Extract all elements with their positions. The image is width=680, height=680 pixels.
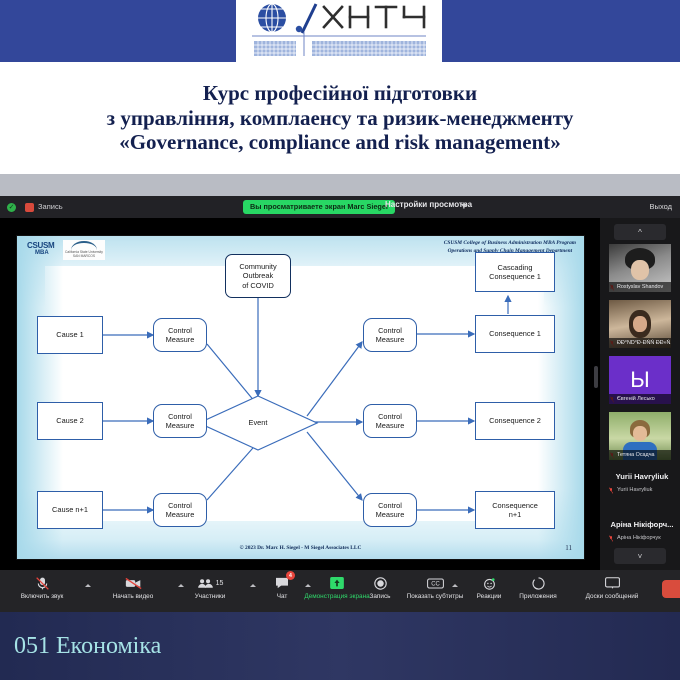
csusm-university-mark: California State University SAN MARCOS (63, 240, 105, 260)
node-cause-n1: Cause n+1 (37, 491, 103, 529)
node-community-outbreak: Community Outbreak of COVID (225, 254, 291, 298)
chevron-down-icon[interactable]: ˅ (614, 548, 666, 564)
participant-tile[interactable]: Rostyslav Shandov (609, 244, 671, 292)
people-icon: 15 (197, 574, 224, 592)
footer-specialty-label: 051 Економіка (14, 633, 161, 660)
toolbar-participants-label: Участники (195, 593, 226, 600)
node-control-measure-2-label: Control Measure (166, 412, 195, 431)
node-control-measure-6: Control Measure (363, 493, 417, 527)
course-title-line3: «Governance, compliance and risk managem… (119, 130, 561, 154)
participant-name: Тетяна Осадча (609, 450, 671, 460)
participants-count: 15 (216, 580, 224, 587)
toolbar-whiteboard-button[interactable]: Доски сообщений (570, 574, 654, 608)
exit-button[interactable]: Выход (650, 202, 672, 211)
node-control-measure-3: Control Measure (153, 493, 207, 527)
title-banner: Курс професійної підготовки з управління… (0, 0, 680, 196)
slide-page-number: 11 (565, 544, 572, 552)
participant-name: Yurii Havryliuk (617, 487, 652, 493)
csusm-logo-secondary: MBA (35, 250, 49, 256)
toolbar-reactions-label: Реакции (477, 593, 502, 600)
view-options-button[interactable]: Настройки просмотра (385, 200, 472, 209)
reactions-icon (483, 574, 496, 592)
node-control-measure-1: Control Measure (153, 318, 207, 352)
leave-meeting-button[interactable] (662, 580, 680, 598)
recording-dot-icon[interactable] (25, 203, 34, 212)
participant-name: Rostyslav Shandov (609, 282, 671, 292)
node-control-measure-3-label: Control Measure (166, 501, 195, 520)
node-control-measure-5-label: Control Measure (376, 412, 405, 431)
slide-header-line1: CSUSM College of Business Administration… (444, 239, 576, 247)
node-cascading-consequence-1: Cascading Consequence 1 (475, 252, 555, 292)
record-circle-icon (374, 574, 387, 592)
participant-name: Аріна Нікіфорчук (617, 535, 661, 541)
shared-screen-area: CSUSM MBA California State University SA… (0, 218, 600, 570)
chevron-up-icon[interactable] (250, 584, 256, 587)
node-cause-2-label: Cause 2 (56, 416, 84, 425)
node-control-measure-1-label: Control Measure (166, 326, 195, 345)
participant-name: Євгеній Лесько (609, 394, 671, 404)
cc-icon: CC (427, 574, 444, 592)
chevron-up-icon[interactable]: ^ (614, 224, 666, 240)
node-cascading-consequence-1-label: Cascading Consequence 1 (489, 263, 541, 282)
banner-gray-strip (0, 174, 680, 196)
participant-display-name: Yurii Havryliuk (609, 472, 675, 481)
university-logo-plate (236, 0, 442, 62)
zoom-bottom-toolbar: Включить звук Начать видео (0, 570, 680, 612)
screen-share-notice: Вы просматриваете экран Marc Siegel (243, 200, 395, 214)
participant-tile[interactable]: Тетяна Осадча (609, 412, 671, 460)
course-title-line1: Курс професійної підготовки (203, 81, 477, 105)
slide-copyright: © 2023 Dr. Marc H. Siegel - M Siegel Ass… (17, 545, 584, 551)
node-control-measure-4: Control Measure (363, 318, 417, 352)
node-control-measure-5: Control Measure (363, 404, 417, 438)
course-title: Курс професійної підготовки з управління… (0, 62, 680, 174)
node-control-measure-6-label: Control Measure (376, 501, 405, 520)
presentation-screenshot: Курс професійної підготовки з управління… (0, 0, 680, 680)
participants-panel: ^ Rostyslav Shandov (600, 218, 680, 570)
node-event-label: Event (249, 418, 268, 427)
mic-muted-icon (609, 535, 613, 542)
node-consequence-n1: Consequence n+1 (475, 491, 555, 529)
toolbar-mute-label: Включить звук (21, 593, 64, 600)
node-cause-2: Cause 2 (37, 402, 103, 440)
node-control-measure-4-label: Control Measure (376, 326, 405, 345)
participant-tile[interactable]: Ы Євгеній Лесько (609, 356, 671, 404)
toolbar-mute-button[interactable]: Включить звук (8, 574, 76, 608)
apps-icon (532, 574, 545, 592)
participant-row[interactable]: Yurii Havryliuk Yurii Havryliuk (609, 472, 675, 506)
toolbar-participants-button[interactable]: 15 Участники (176, 574, 244, 608)
node-consequence-1: Consequence 1 (475, 315, 555, 353)
toolbar-video-label: Начать видео (113, 593, 154, 600)
presentation-slide: CSUSM MBA California State University SA… (16, 235, 585, 560)
node-consequence-2-label: Consequence 2 (489, 416, 541, 425)
chevron-up-icon[interactable] (85, 584, 91, 587)
mic-muted-icon (609, 487, 613, 494)
chevron-up-icon[interactable] (452, 584, 458, 587)
course-title-line2: з управління, комплаенсу та ризик-менедж… (107, 106, 574, 130)
globe-grid-icon (244, 2, 434, 60)
node-community-outbreak-label: Community Outbreak of COVID (239, 262, 276, 290)
footer-banner: 051 Економіка (0, 612, 680, 680)
csusm-logo-primary: CSUSM (27, 241, 54, 250)
csusm-logo: CSUSM MBA California State University SA… (25, 240, 105, 262)
share-scrollbar-handle[interactable] (594, 366, 598, 388)
mic-muted-icon (35, 574, 50, 592)
toolbar-apps-label: Приложения (519, 593, 556, 600)
shield-check-icon[interactable]: ✓ (7, 203, 16, 212)
avatar-face (633, 426, 647, 441)
participant-display-name: Аріна Нікіфорч... (609, 520, 675, 529)
zoom-top-bar: ✓ Запись Вы просматриваете экран Marc Si… (0, 196, 680, 218)
toolbar-apps-button[interactable]: Приложения (504, 574, 572, 608)
node-event: Event (199, 396, 317, 450)
avatar-face (631, 260, 649, 280)
slide-white-canvas (45, 266, 544, 521)
node-consequence-n1-label: Consequence n+1 (492, 501, 538, 520)
zoom-meeting-window: ✓ Запись Вы просматриваете экран Marc Si… (0, 196, 680, 612)
recording-label: Запись (38, 202, 63, 211)
svg-text:CC: CC (431, 581, 440, 587)
chevron-down-icon[interactable] (461, 204, 467, 208)
node-consequence-2: Consequence 2 (475, 402, 555, 440)
toolbar-record-label: Запись (370, 593, 391, 600)
khntu-logo (244, 2, 434, 60)
toolbar-captions-button[interactable]: CC Показать субтитры (396, 574, 474, 608)
toolbar-whiteboard-label: Доски сообщений (586, 593, 639, 600)
share-screen-icon (330, 574, 344, 592)
node-cause-n1-label: Cause n+1 (52, 505, 88, 514)
whiteboard-icon (605, 574, 620, 592)
participant-tile[interactable]: ĐĐ°ND°Đ·ĐŃŃ ĐĐ»Ń... (609, 300, 671, 348)
node-cause-1: Cause 1 (37, 316, 103, 354)
video-muted-icon (125, 574, 142, 592)
avatar-face (633, 316, 647, 332)
participant-name: ĐĐ°ND°Đ·ĐŃŃ ĐĐ»Ń... (609, 338, 671, 348)
node-cause-1-label: Cause 1 (56, 330, 84, 339)
node-consequence-1-label: Consequence 1 (489, 329, 541, 338)
arch-icon (71, 241, 97, 250)
csusm-university-line2: SAN MARCOS (73, 255, 95, 259)
toolbar-captions-label: Показать субтитры (407, 593, 464, 600)
toolbar-video-button[interactable]: Начать видео (98, 574, 168, 608)
